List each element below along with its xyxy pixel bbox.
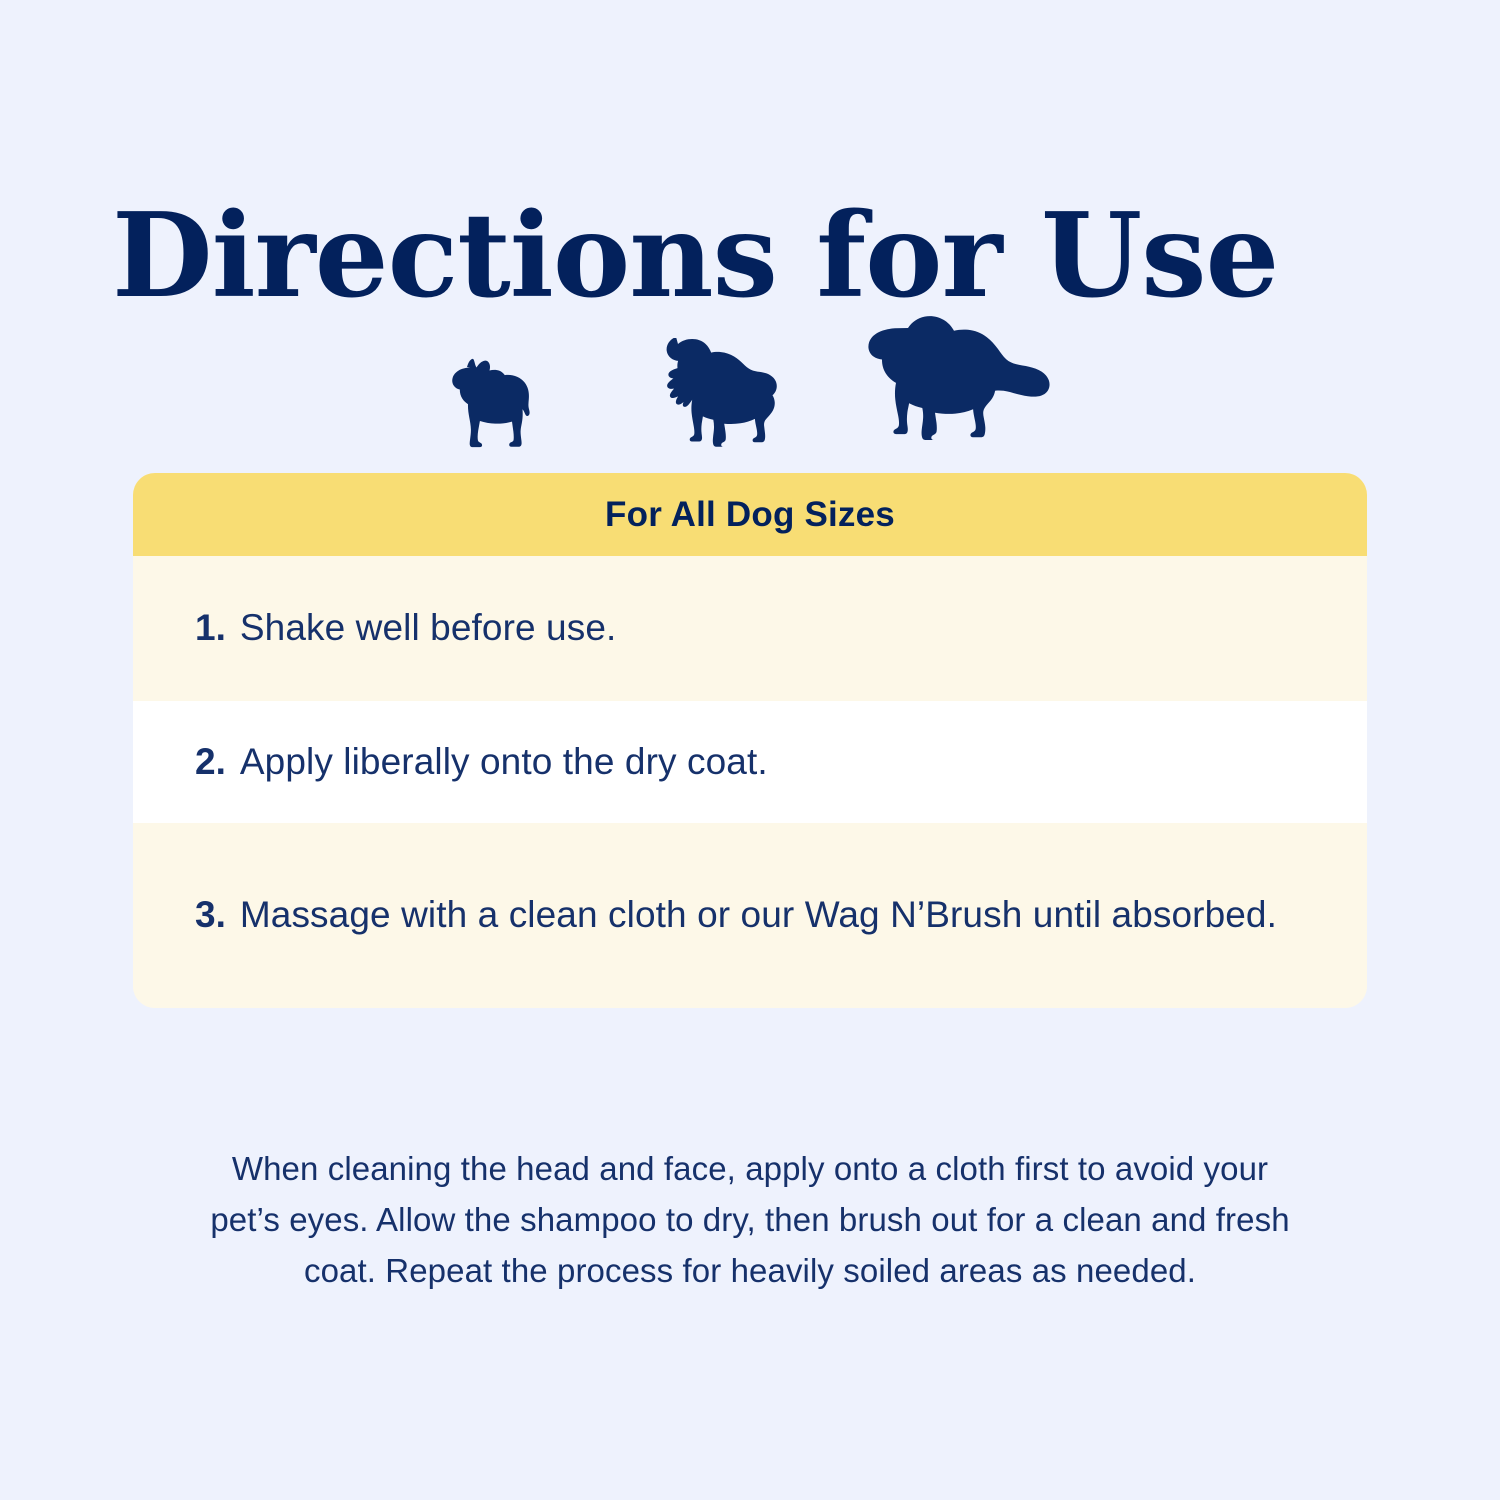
step-item-2: 2. Apply liberally onto the dry coat. [133, 701, 1367, 823]
dog-size-illustration [0, 300, 1500, 450]
step-text-3: Massage with a clean cloth or our Wag N’… [240, 891, 1277, 940]
step-number-3: 3. [195, 891, 226, 940]
step-number-1: 1. [195, 604, 226, 653]
card-header-title: For All Dog Sizes [605, 495, 895, 535]
large-dog-silhouette-icon [868, 314, 1060, 450]
step-number-2: 2. [195, 738, 226, 787]
step-text-1: Shake well before use. [240, 604, 617, 653]
directions-for-use-panel: Directions for Use For All Dog Sizes 1. … [0, 0, 1500, 1500]
medium-dog-silhouette-icon [634, 338, 786, 450]
step-item-1: 1. Shake well before use. [133, 556, 1367, 701]
card-header: For All Dog Sizes [133, 473, 1367, 556]
small-dog-silhouette-icon [440, 358, 552, 450]
directions-card: For All Dog Sizes 1. Shake well before u… [133, 473, 1367, 1008]
step-text-2: Apply liberally onto the dry coat. [240, 738, 768, 787]
step-item-3: 3. Massage with a clean cloth or our Wag… [133, 823, 1367, 1008]
usage-note: When cleaning the head and face, apply o… [200, 1143, 1300, 1296]
